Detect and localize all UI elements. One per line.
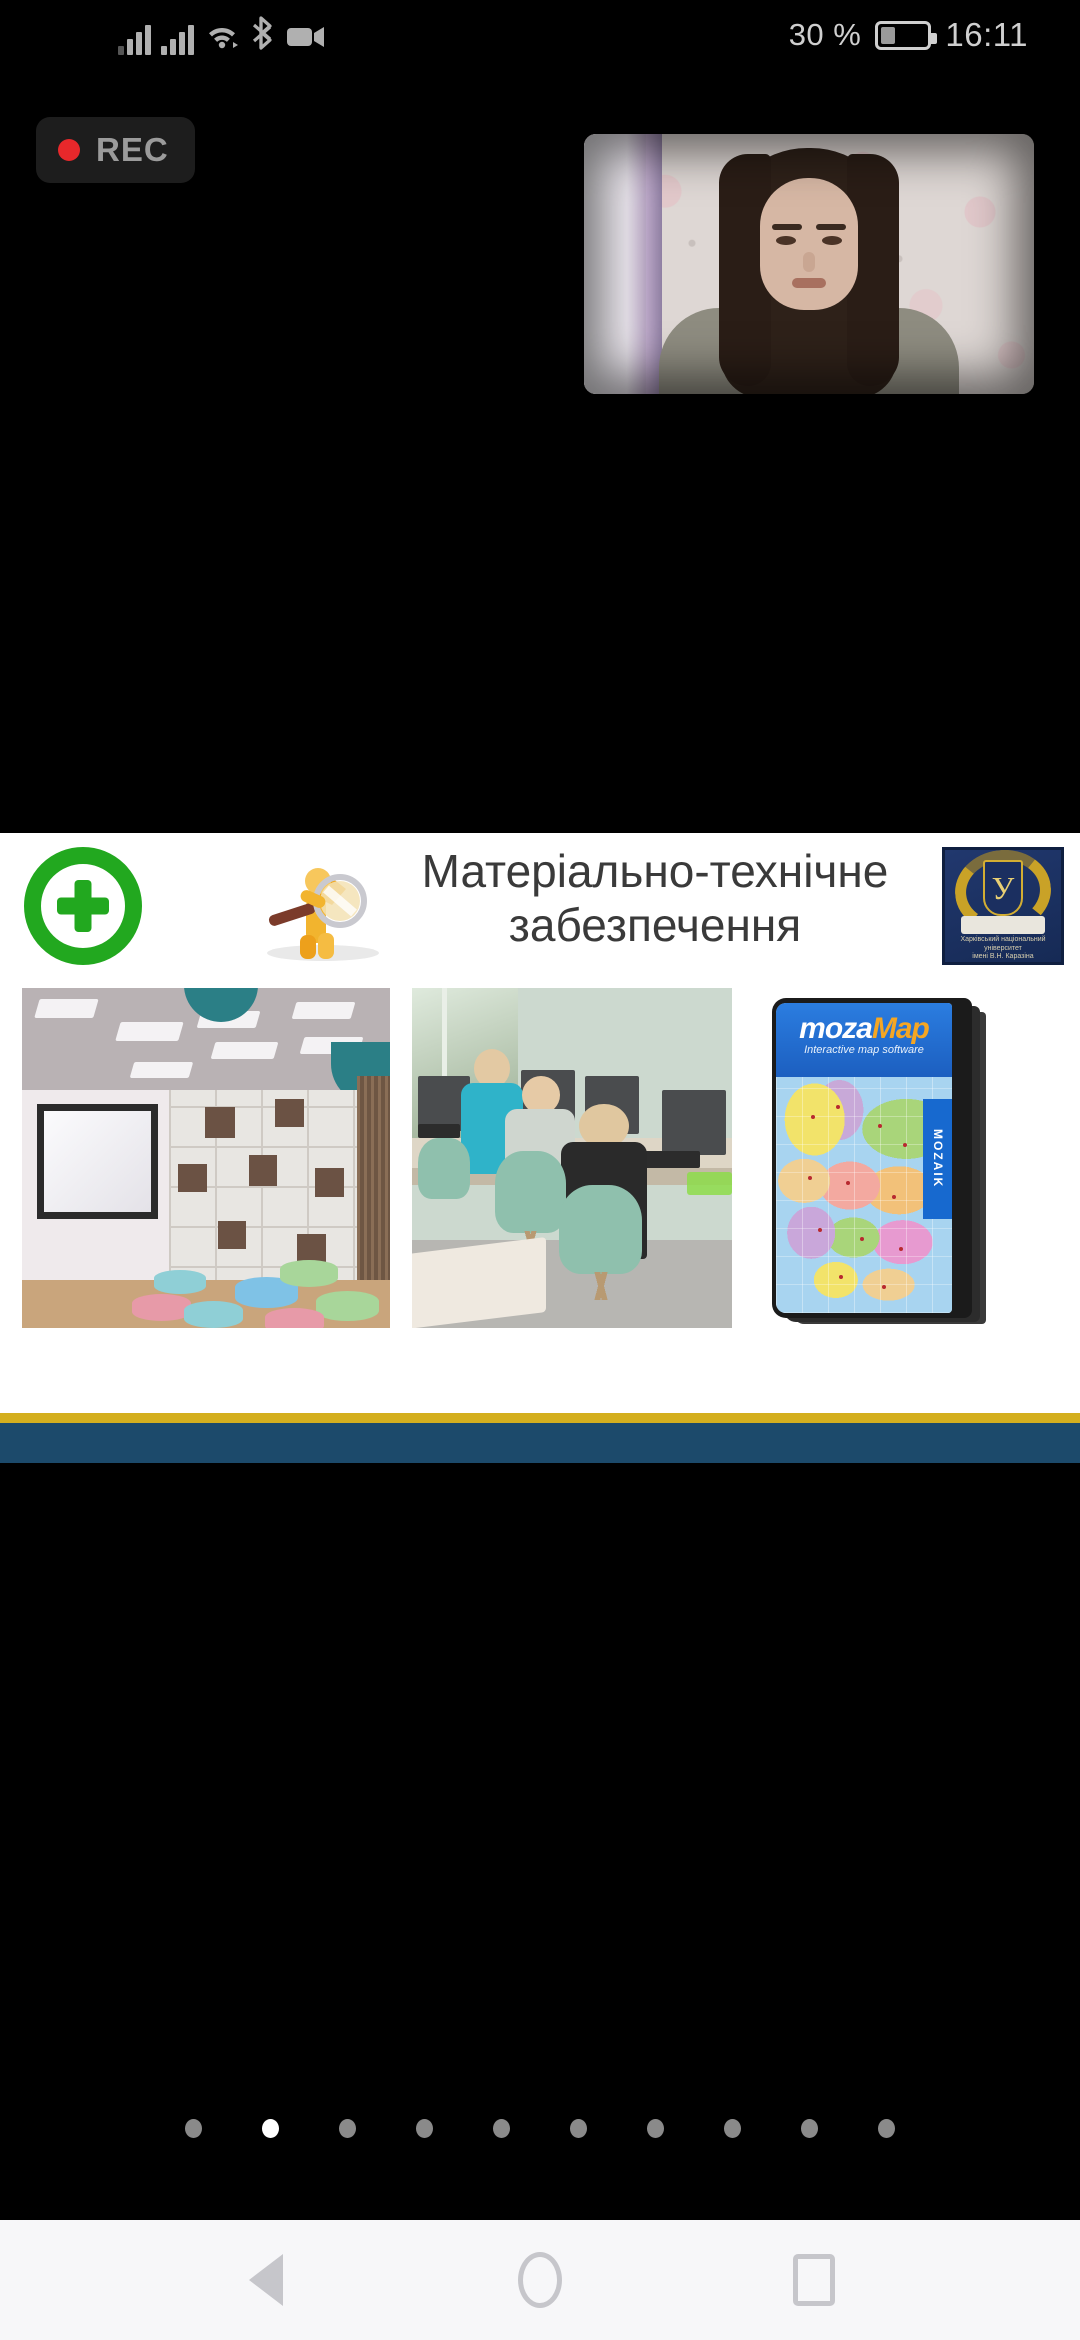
mozamap-product-box: mozaMap Interactive map software — [772, 998, 972, 1318]
recents-button[interactable] — [777, 2243, 851, 2317]
wifi-icon — [204, 20, 240, 55]
figure-with-magnifier-icon — [248, 853, 398, 963]
android-navigation-bar — [0, 2220, 1080, 2340]
slide-title-line-2: забезпечення — [400, 899, 910, 953]
photo-mozamap: mozaMap Interactive map software — [762, 988, 1002, 1336]
blue-footer-bar — [0, 1423, 1080, 1463]
cellular-signal-icon — [118, 23, 151, 55]
mozamap-title-part-2: Map — [872, 1012, 929, 1045]
page-dot[interactable] — [493, 2119, 510, 2138]
page-dot-active[interactable] — [262, 2119, 279, 2138]
recording-badge[interactable]: REC — [36, 117, 195, 183]
home-button[interactable] — [503, 2243, 577, 2317]
battery-icon — [875, 21, 931, 50]
slide-footer — [0, 1413, 1080, 1463]
cellular-signal-icon-2 — [161, 23, 194, 55]
page-dot[interactable] — [801, 2119, 818, 2138]
mozaik-spine-label: MOZAIK — [923, 1099, 952, 1219]
page-dot[interactable] — [416, 2119, 433, 2138]
laurel-wreath-icon: У — [955, 850, 1051, 932]
status-bar: 30 % 16:11 — [0, 0, 1080, 70]
clock-label: 16:11 — [945, 16, 1028, 54]
status-bar-left-icons — [0, 15, 326, 55]
gold-accent-bar — [0, 1413, 1080, 1423]
back-button[interactable] — [229, 2243, 303, 2317]
logo-caption-line-2: імені В.Н. Каразіна — [949, 953, 1057, 962]
slide-photo-row: mozaMap Interactive map software — [0, 976, 1080, 1386]
photo-library — [22, 988, 390, 1328]
slide-title-line-1: Матеріально-технічне — [400, 845, 910, 899]
recording-label: REC — [96, 131, 169, 169]
page-dot[interactable] — [339, 2119, 356, 2138]
record-dot-icon — [58, 139, 80, 161]
video-vignette — [584, 134, 1034, 394]
logo-caption: Харківський національний університет іме… — [949, 936, 1057, 962]
status-bar-right-icons: 30 % 16:11 — [789, 16, 1080, 54]
page-dot[interactable] — [647, 2119, 664, 2138]
mozamap-title-part-1: moza — [799, 1012, 872, 1045]
battery-percent-label: 30 % — [789, 17, 862, 53]
presentation-slide[interactable]: Матеріально-технічне забезпечення У Харк… — [0, 833, 1080, 1463]
green-plus-circle-icon — [24, 847, 142, 965]
logo-emblem-letter: У — [983, 860, 1023, 916]
page-dot[interactable] — [185, 2119, 202, 2138]
self-view-video-tile[interactable] — [584, 134, 1034, 394]
page-dot[interactable] — [878, 2119, 895, 2138]
phone-screen: 30 % 16:11 REC — [0, 0, 1080, 2340]
video-camera-icon — [286, 24, 326, 55]
page-dot[interactable] — [724, 2119, 741, 2138]
bluetooth-icon — [250, 16, 276, 55]
university-logo: У Харківський національний університет і… — [942, 847, 1064, 965]
logo-caption-line-1: Харківський національний університет — [949, 936, 1057, 954]
page-indicator[interactable] — [0, 2119, 1080, 2138]
photo-computer-lab — [412, 988, 732, 1328]
page-dot[interactable] — [570, 2119, 587, 2138]
slide-title: Матеріально-технічне забезпечення — [400, 845, 910, 953]
slide-header: Матеріально-технічне забезпечення У Харк… — [0, 833, 1080, 976]
